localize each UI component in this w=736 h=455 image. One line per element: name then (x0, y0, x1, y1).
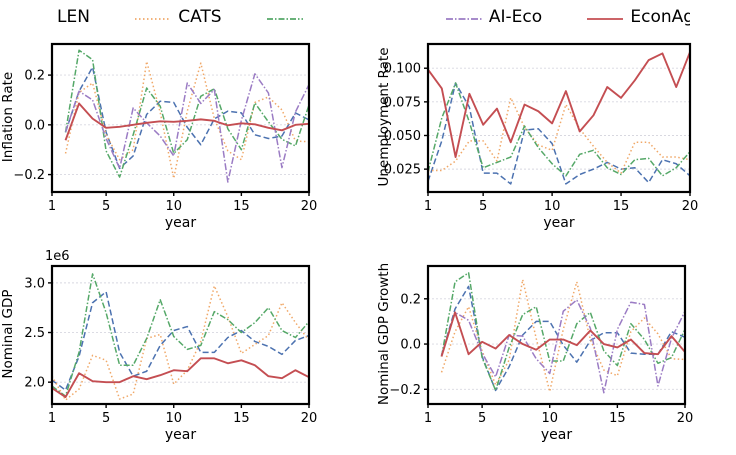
legend-line-swatch (587, 16, 623, 19)
x-tick-label: 15 (613, 199, 630, 214)
legend-label: LEN (57, 9, 90, 26)
y-tick-label: 0.2 (24, 69, 45, 84)
legend-label: CATS (178, 9, 221, 26)
y-tick-label: 2.5 (24, 326, 45, 341)
y-axis-label: Inflation Rate (0, 23, 16, 211)
y-tick-label: 0.2 (400, 292, 421, 307)
y-tick-label: 3.0 (24, 276, 45, 291)
x-tick-label: 10 (541, 411, 558, 426)
x-tick-label: 15 (609, 411, 626, 426)
x-tick-label: 5 (479, 199, 487, 214)
plot-area-nominal-gdp: 2.02.53.015101520 (0, 244, 368, 455)
legend-aieco[interactable]: AI-Eco (446, 9, 542, 26)
y-axis-label: Nominal GDP Growth (376, 245, 392, 423)
panel-inflation-rate: −0.20.00.215101520Inflation Rateyear (0, 34, 368, 244)
y-tick-label: −0.2 (13, 168, 45, 183)
panel-unemployment-rate: 0.0250.0500.0750.10015101520Unemployment… (368, 34, 736, 244)
legend-line-swatch (135, 16, 171, 19)
x-tick-label: 20 (301, 411, 318, 426)
x-tick-label: 10 (165, 411, 182, 426)
y-tick-label: 0.0 (400, 338, 421, 353)
legend-label: AI-Eco (489, 9, 542, 26)
y-tick-label: −0.2 (389, 383, 421, 398)
legend-line-swatch (446, 16, 482, 19)
x-tick-label: 20 (682, 199, 699, 214)
plot-background (52, 44, 309, 192)
x-tick-label: 20 (677, 411, 694, 426)
y-tick-label: 2.0 (24, 376, 45, 391)
axes-mask (368, 244, 736, 266)
x-axis-label: year (52, 215, 309, 231)
x-tick-label: 5 (478, 411, 486, 426)
x-tick-label: 15 (233, 199, 250, 214)
x-tick-label: 10 (165, 199, 182, 214)
x-tick-label: 5 (102, 411, 110, 426)
panel-nominal-gdp-growth: −0.20.00.215101520Nominal GDP Growthyear (368, 244, 736, 455)
y-axis-label: Nominal GDP (0, 245, 16, 423)
axes-mask (368, 34, 736, 44)
plot-background (428, 266, 685, 404)
x-tick-label: 20 (301, 199, 318, 214)
legend-cats[interactable]: CATS (135, 9, 221, 26)
panel-nominal-gdp: 2.02.53.015101520Nominal GDPyear1e6 (0, 244, 368, 455)
y-axis-offset-text: 1e6 (45, 249, 70, 264)
x-tick-label: 1 (424, 199, 432, 214)
legend-line-swatch (267, 16, 303, 19)
plot-area-nominal-gdp-growth: −0.20.00.215101520 (368, 244, 736, 455)
plot-area-inflation-rate: −0.20.00.215101520 (0, 34, 368, 244)
y-axis-label: Unemployment Rate (376, 23, 392, 211)
x-axis-label: year (428, 215, 690, 231)
x-axis-label: year (428, 427, 685, 443)
x-tick-label: 10 (544, 199, 561, 214)
x-tick-label: 1 (48, 411, 56, 426)
x-axis-label: year (52, 427, 309, 443)
x-tick-label: 5 (102, 199, 110, 214)
x-tick-label: 1 (424, 411, 432, 426)
plot-area-unemployment-rate: 0.0250.0500.0750.10015101520 (368, 34, 736, 244)
y-tick-label: 0.0 (24, 118, 45, 133)
axes-mask (0, 34, 368, 44)
x-tick-label: 1 (48, 199, 56, 214)
x-tick-label: 15 (233, 411, 250, 426)
figure-root: LENCATSCompositeAI-EcoEconAgent −0.20.00… (0, 0, 736, 455)
